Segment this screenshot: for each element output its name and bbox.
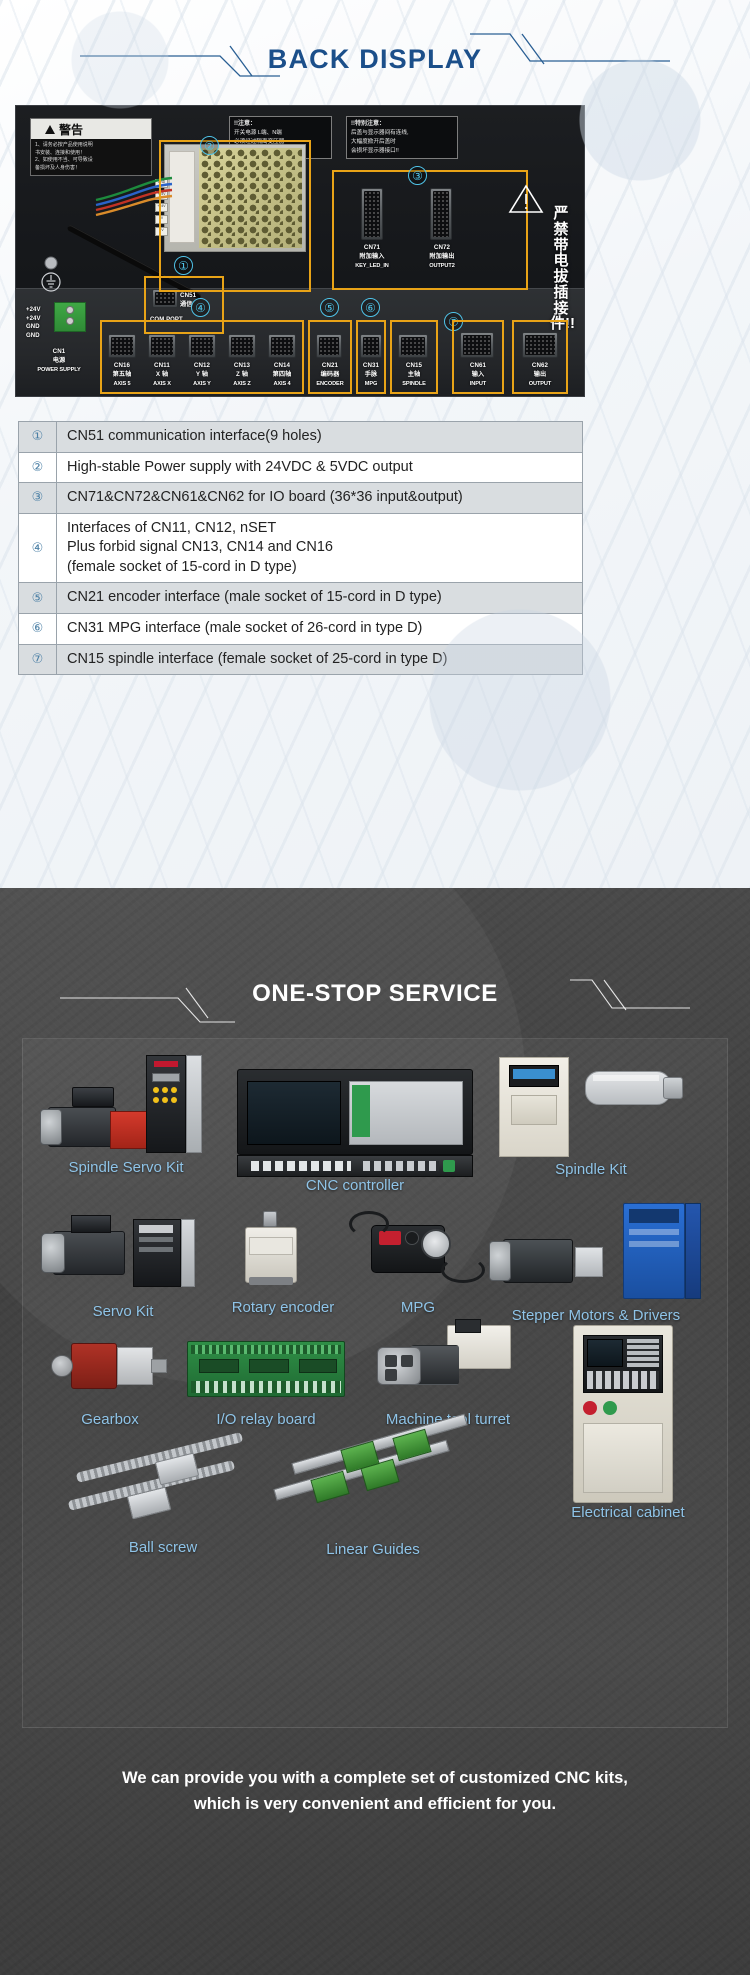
table-row: ⑤ CN21 encoder interface (male socket of… xyxy=(19,583,582,614)
row-number: ① xyxy=(19,422,57,452)
connector-cn21 xyxy=(316,334,342,358)
vertical-warning-text: 严禁带电拔插接件!! xyxy=(550,206,572,332)
warning-triangle-icon xyxy=(45,125,55,134)
product-cnc-controller[interactable]: CNC controller xyxy=(235,1069,475,1194)
warning-line-3: 2、如使用不当、可导致设 xyxy=(35,157,147,165)
warning-line-1: 1、请务必按产品使用说明 xyxy=(35,142,147,150)
table-row: ① CN51 communication interface(9 holes) xyxy=(19,422,582,453)
connector-cn15 xyxy=(398,334,428,358)
connector-label-cn72: CN72附加输出OUTPUT2 xyxy=(412,244,472,271)
marker-6: ⑥ xyxy=(361,298,380,317)
service-decoration-right xyxy=(570,974,690,1023)
warning-line-2: 书安装、连接和使用！ xyxy=(35,150,147,158)
row-text: High-stable Power supply with 24VDC & 5V… xyxy=(57,453,423,483)
page-title: BACK DISPLAY xyxy=(250,44,500,75)
table-row: ⑥ CN31 MPG interface (male socket of 26-… xyxy=(19,614,582,645)
marker-4: ④ xyxy=(191,298,210,317)
row-text: CN21 encoder interface (male socket of 1… xyxy=(57,583,452,613)
marker-3: ③ xyxy=(408,166,427,185)
page-root: BACK DISPLAY 警告 1、请务必按产品使用说明 书安装、连接和使用！ xyxy=(0,0,750,1975)
service-title: ONE-STOP SERVICE xyxy=(236,980,514,1008)
note-box-special-attention: !!特别注意： 后盖与显示器间有连线, 大幅度掀开后盖时 会损坏显示器接口!! xyxy=(346,116,458,159)
product-electrical-cabinet[interactable]: Electrical cabinet xyxy=(543,1319,713,1521)
product-label: CNC controller xyxy=(235,1177,475,1194)
table-row: ④ Interfaces of CN11, CN12, nSET Plus fo… xyxy=(19,514,582,584)
connector-label-cn16: CN16第五轴AXIS 5 xyxy=(104,362,140,389)
connector-cn12 xyxy=(188,334,216,358)
table-row: ③ CN71&CN72&CN61&CN62 for IO board (36*3… xyxy=(19,483,582,514)
product-spindle-kit[interactable]: Spindle Kit xyxy=(491,1049,691,1178)
connector-cn13 xyxy=(228,334,256,358)
note2-line-2: 大幅度掀开后盖时 xyxy=(351,138,453,147)
spec-table: ① CN51 communication interface(9 holes) … xyxy=(18,421,583,675)
connector-cn71 xyxy=(361,188,383,240)
connector-label-cn31: CN31手脉MPG xyxy=(354,362,388,389)
connector-label-cn62: CN62输出OUTPUT xyxy=(512,362,568,389)
row-text: CN15 spindle interface (female socket of… xyxy=(57,645,457,675)
product-label: Linear Guides xyxy=(263,1541,483,1558)
connector-label-cn1: CN1电源POWER SUPPLY xyxy=(28,348,90,375)
row-text: CN31 MPG interface (male socket of 26-co… xyxy=(57,614,432,644)
connector-cn14 xyxy=(268,334,296,358)
callout-box-2 xyxy=(159,140,311,292)
product-label: I/O relay board xyxy=(171,1411,361,1428)
product-gearbox[interactable]: Gearbox xyxy=(35,1329,185,1428)
row-number: ② xyxy=(19,453,57,483)
product-label: Servo Kit xyxy=(33,1303,213,1320)
product-label: MPG xyxy=(343,1299,493,1316)
note2-line-1: 后盖与显示器间有连线, xyxy=(351,129,453,138)
connector-label-cn13: CN13Z 轴AXIS Z xyxy=(224,362,260,389)
product-label: Rotary encoder xyxy=(203,1299,363,1316)
marker-2: ② xyxy=(200,136,219,155)
product-servo-kit[interactable]: Servo Kit xyxy=(33,1207,213,1320)
row-number: ⑤ xyxy=(19,583,57,613)
products-grid-panel: Spindle Servo Kit CNC controller xyxy=(22,1038,728,1728)
connector-label-cn21: CN21编码器ENCODER xyxy=(308,362,352,389)
note2-line-3: 会损坏显示器接口!! xyxy=(351,147,453,156)
connector-cn16 xyxy=(108,334,136,358)
connector-label-cn14: CN14第四轴AXIS 4 xyxy=(264,362,300,389)
warning-plate-body: 1、请务必按产品使用说明 书安装、连接和使用！ 2、如使用不当、可导致设 备损坏… xyxy=(31,139,151,175)
connector-cn11 xyxy=(148,334,176,358)
product-io-relay-board[interactable]: I/O relay board xyxy=(171,1329,361,1428)
ground-symbol-icon xyxy=(38,256,66,298)
back-display-section: BACK DISPLAY 警告 1、请务必按产品使用说明 书安装、连接和使用！ xyxy=(0,0,750,888)
marker-5: ⑤ xyxy=(320,298,339,317)
connector-cn72 xyxy=(430,188,452,240)
product-label: Electrical cabinet xyxy=(543,1504,713,1521)
row-text: CN51 communication interface(9 holes) xyxy=(57,422,332,452)
warning-plate-title: 警告 xyxy=(59,121,83,138)
warning-line-4: 备损坏及人身伤害！ xyxy=(35,165,147,173)
warning-plate-header: 警告 xyxy=(31,119,151,139)
table-row: ② High-stable Power supply with 24VDC & … xyxy=(19,453,582,484)
product-spindle-servo-kit[interactable]: Spindle Servo Kit xyxy=(31,1049,221,1176)
connector-label-cn12: CN12Y 轴AXIS Y xyxy=(184,362,220,389)
product-label: Spindle Servo Kit xyxy=(31,1159,221,1176)
note1-title: !!注意： xyxy=(234,120,327,129)
service-footer: We can provide you with a complete set o… xyxy=(0,1766,750,1817)
product-mpg[interactable]: MPG xyxy=(343,1207,493,1316)
row-number: ③ xyxy=(19,483,57,513)
connector-label-cn15: CN15主轴SPINDLE xyxy=(390,362,438,389)
product-ball-screw[interactable]: Ball screw xyxy=(63,1439,263,1556)
row-number: ⑥ xyxy=(19,614,57,644)
connector-label-cn61: CN61输入INPUT xyxy=(452,362,504,389)
warning-plate: 警告 1、请务必按产品使用说明 书安装、连接和使用！ 2、如使用不当、可导致设 … xyxy=(30,118,152,176)
footer-line-1: We can provide you with a complete set o… xyxy=(40,1766,710,1792)
terminal-labels: +24V+24VGNDGND xyxy=(26,306,60,341)
note2-title: !!特别注意： xyxy=(351,120,453,129)
row-text: Interfaces of CN11, CN12, nSET Plus forb… xyxy=(57,514,343,583)
product-label: Spindle Kit xyxy=(491,1161,691,1178)
row-number: ⑦ xyxy=(19,645,57,675)
row-number: ④ xyxy=(19,514,57,583)
footer-line-2: which is very convenient and efficient f… xyxy=(40,1792,710,1818)
connector-label-cn11: CN11X 轴AXIS X xyxy=(144,362,180,389)
connector-cn31 xyxy=(360,334,382,358)
high-voltage-triangle-icon xyxy=(508,184,544,214)
connector-cn62 xyxy=(522,332,558,358)
product-stepper-motors-drivers[interactable]: Stepper Motors & Drivers xyxy=(481,1199,711,1324)
connector-cn61 xyxy=(460,332,494,358)
one-stop-service-section: ONE-STOP SERVICE xyxy=(0,888,750,1975)
product-back-panel-photo: 警告 1、请务必按产品使用说明 书安装、连接和使用！ 2、如使用不当、可导致设 … xyxy=(15,105,585,397)
table-row: ⑦ CN15 spindle interface (female socket … xyxy=(19,645,582,675)
product-linear-guides[interactable]: Linear Guides xyxy=(263,1429,483,1558)
note1-line-1: 开关电源 L端、N端 xyxy=(234,129,327,138)
connector-label-cn71: CN71附加输入KEY_LED_IN xyxy=(342,244,402,271)
product-rotary-encoder[interactable]: Rotary encoder xyxy=(203,1207,363,1316)
product-label: Ball screw xyxy=(63,1539,263,1556)
product-machine-tool-turret[interactable]: Machine tool turret xyxy=(353,1317,543,1428)
row-text: CN71&CN72&CN61&CN62 for IO board (36*36 … xyxy=(57,483,473,513)
product-label: Gearbox xyxy=(35,1411,185,1428)
